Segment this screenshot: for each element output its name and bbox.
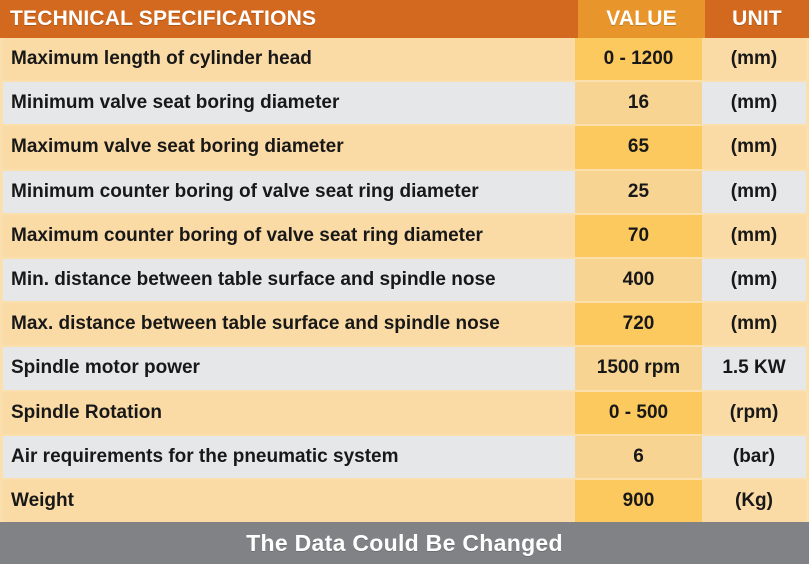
cell-value: 400 bbox=[575, 259, 702, 301]
table-row: Weight900(Kg) bbox=[3, 480, 806, 522]
table-row: Spindle Rotation0 - 500(rpm) bbox=[3, 392, 806, 436]
table-body: Maximum length of cylinder head0 - 1200(… bbox=[0, 38, 809, 522]
cell-unit: (mm) bbox=[702, 303, 806, 345]
cell-unit: 1.5 KW bbox=[702, 347, 806, 389]
table-row: Minimum counter boring of valve seat rin… bbox=[3, 171, 806, 215]
cell-value: 65 bbox=[575, 126, 702, 168]
cell-value: 6 bbox=[575, 436, 702, 478]
cell-specification: Weight bbox=[3, 480, 575, 522]
cell-specification: Maximum valve seat boring diameter bbox=[3, 126, 575, 168]
cell-value: 25 bbox=[575, 171, 702, 213]
table-row: Maximum valve seat boring diameter65(mm) bbox=[3, 126, 806, 170]
table-row: Spindle motor power1500 rpm1.5 KW bbox=[3, 347, 806, 391]
cell-unit: (bar) bbox=[702, 436, 806, 478]
cell-unit: (mm) bbox=[702, 126, 806, 168]
table-row: Maximum length of cylinder head0 - 1200(… bbox=[3, 38, 806, 82]
cell-value: 70 bbox=[575, 215, 702, 257]
cell-value: 16 bbox=[575, 82, 702, 124]
cell-specification: Min. distance between table surface and … bbox=[3, 259, 575, 301]
cell-unit: (mm) bbox=[702, 171, 806, 213]
cell-unit: (mm) bbox=[702, 82, 806, 124]
cell-value: 0 - 1200 bbox=[575, 38, 702, 80]
cell-value: 1500 rpm bbox=[575, 347, 702, 389]
cell-specification: Minimum valve seat boring diameter bbox=[3, 82, 575, 124]
table-row: Minimum valve seat boring diameter16(mm) bbox=[3, 82, 806, 126]
table-footer-note: The Data Could Be Changed bbox=[0, 522, 809, 564]
cell-specification: Maximum length of cylinder head bbox=[3, 38, 575, 80]
cell-unit: (mm) bbox=[702, 38, 806, 80]
cell-unit: (rpm) bbox=[702, 392, 806, 434]
table-row: Max. distance between table surface and … bbox=[3, 303, 806, 347]
column-header-unit: UNIT bbox=[705, 0, 809, 38]
cell-unit: (mm) bbox=[702, 215, 806, 257]
column-header-specifications: TECHNICAL SPECIFICATIONS bbox=[0, 0, 578, 38]
table-row: Min. distance between table surface and … bbox=[3, 259, 806, 303]
technical-specifications-table: TECHNICAL SPECIFICATIONS VALUE UNIT Maxi… bbox=[0, 0, 809, 564]
table-row: Air requirements for the pneumatic syste… bbox=[3, 436, 806, 480]
cell-unit: (Kg) bbox=[702, 480, 806, 522]
cell-specification: Minimum counter boring of valve seat rin… bbox=[3, 171, 575, 213]
cell-value: 0 - 500 bbox=[575, 392, 702, 434]
cell-value: 900 bbox=[575, 480, 702, 522]
cell-specification: Spindle Rotation bbox=[3, 392, 575, 434]
cell-unit: (mm) bbox=[702, 259, 806, 301]
table-header-row: TECHNICAL SPECIFICATIONS VALUE UNIT bbox=[0, 0, 809, 38]
cell-specification: Maximum counter boring of valve seat rin… bbox=[3, 215, 575, 257]
cell-value: 720 bbox=[575, 303, 702, 345]
column-header-value: VALUE bbox=[578, 0, 705, 38]
cell-specification: Spindle motor power bbox=[3, 347, 575, 389]
cell-specification: Air requirements for the pneumatic syste… bbox=[3, 436, 575, 478]
cell-specification: Max. distance between table surface and … bbox=[3, 303, 575, 345]
table-row: Maximum counter boring of valve seat rin… bbox=[3, 215, 806, 259]
